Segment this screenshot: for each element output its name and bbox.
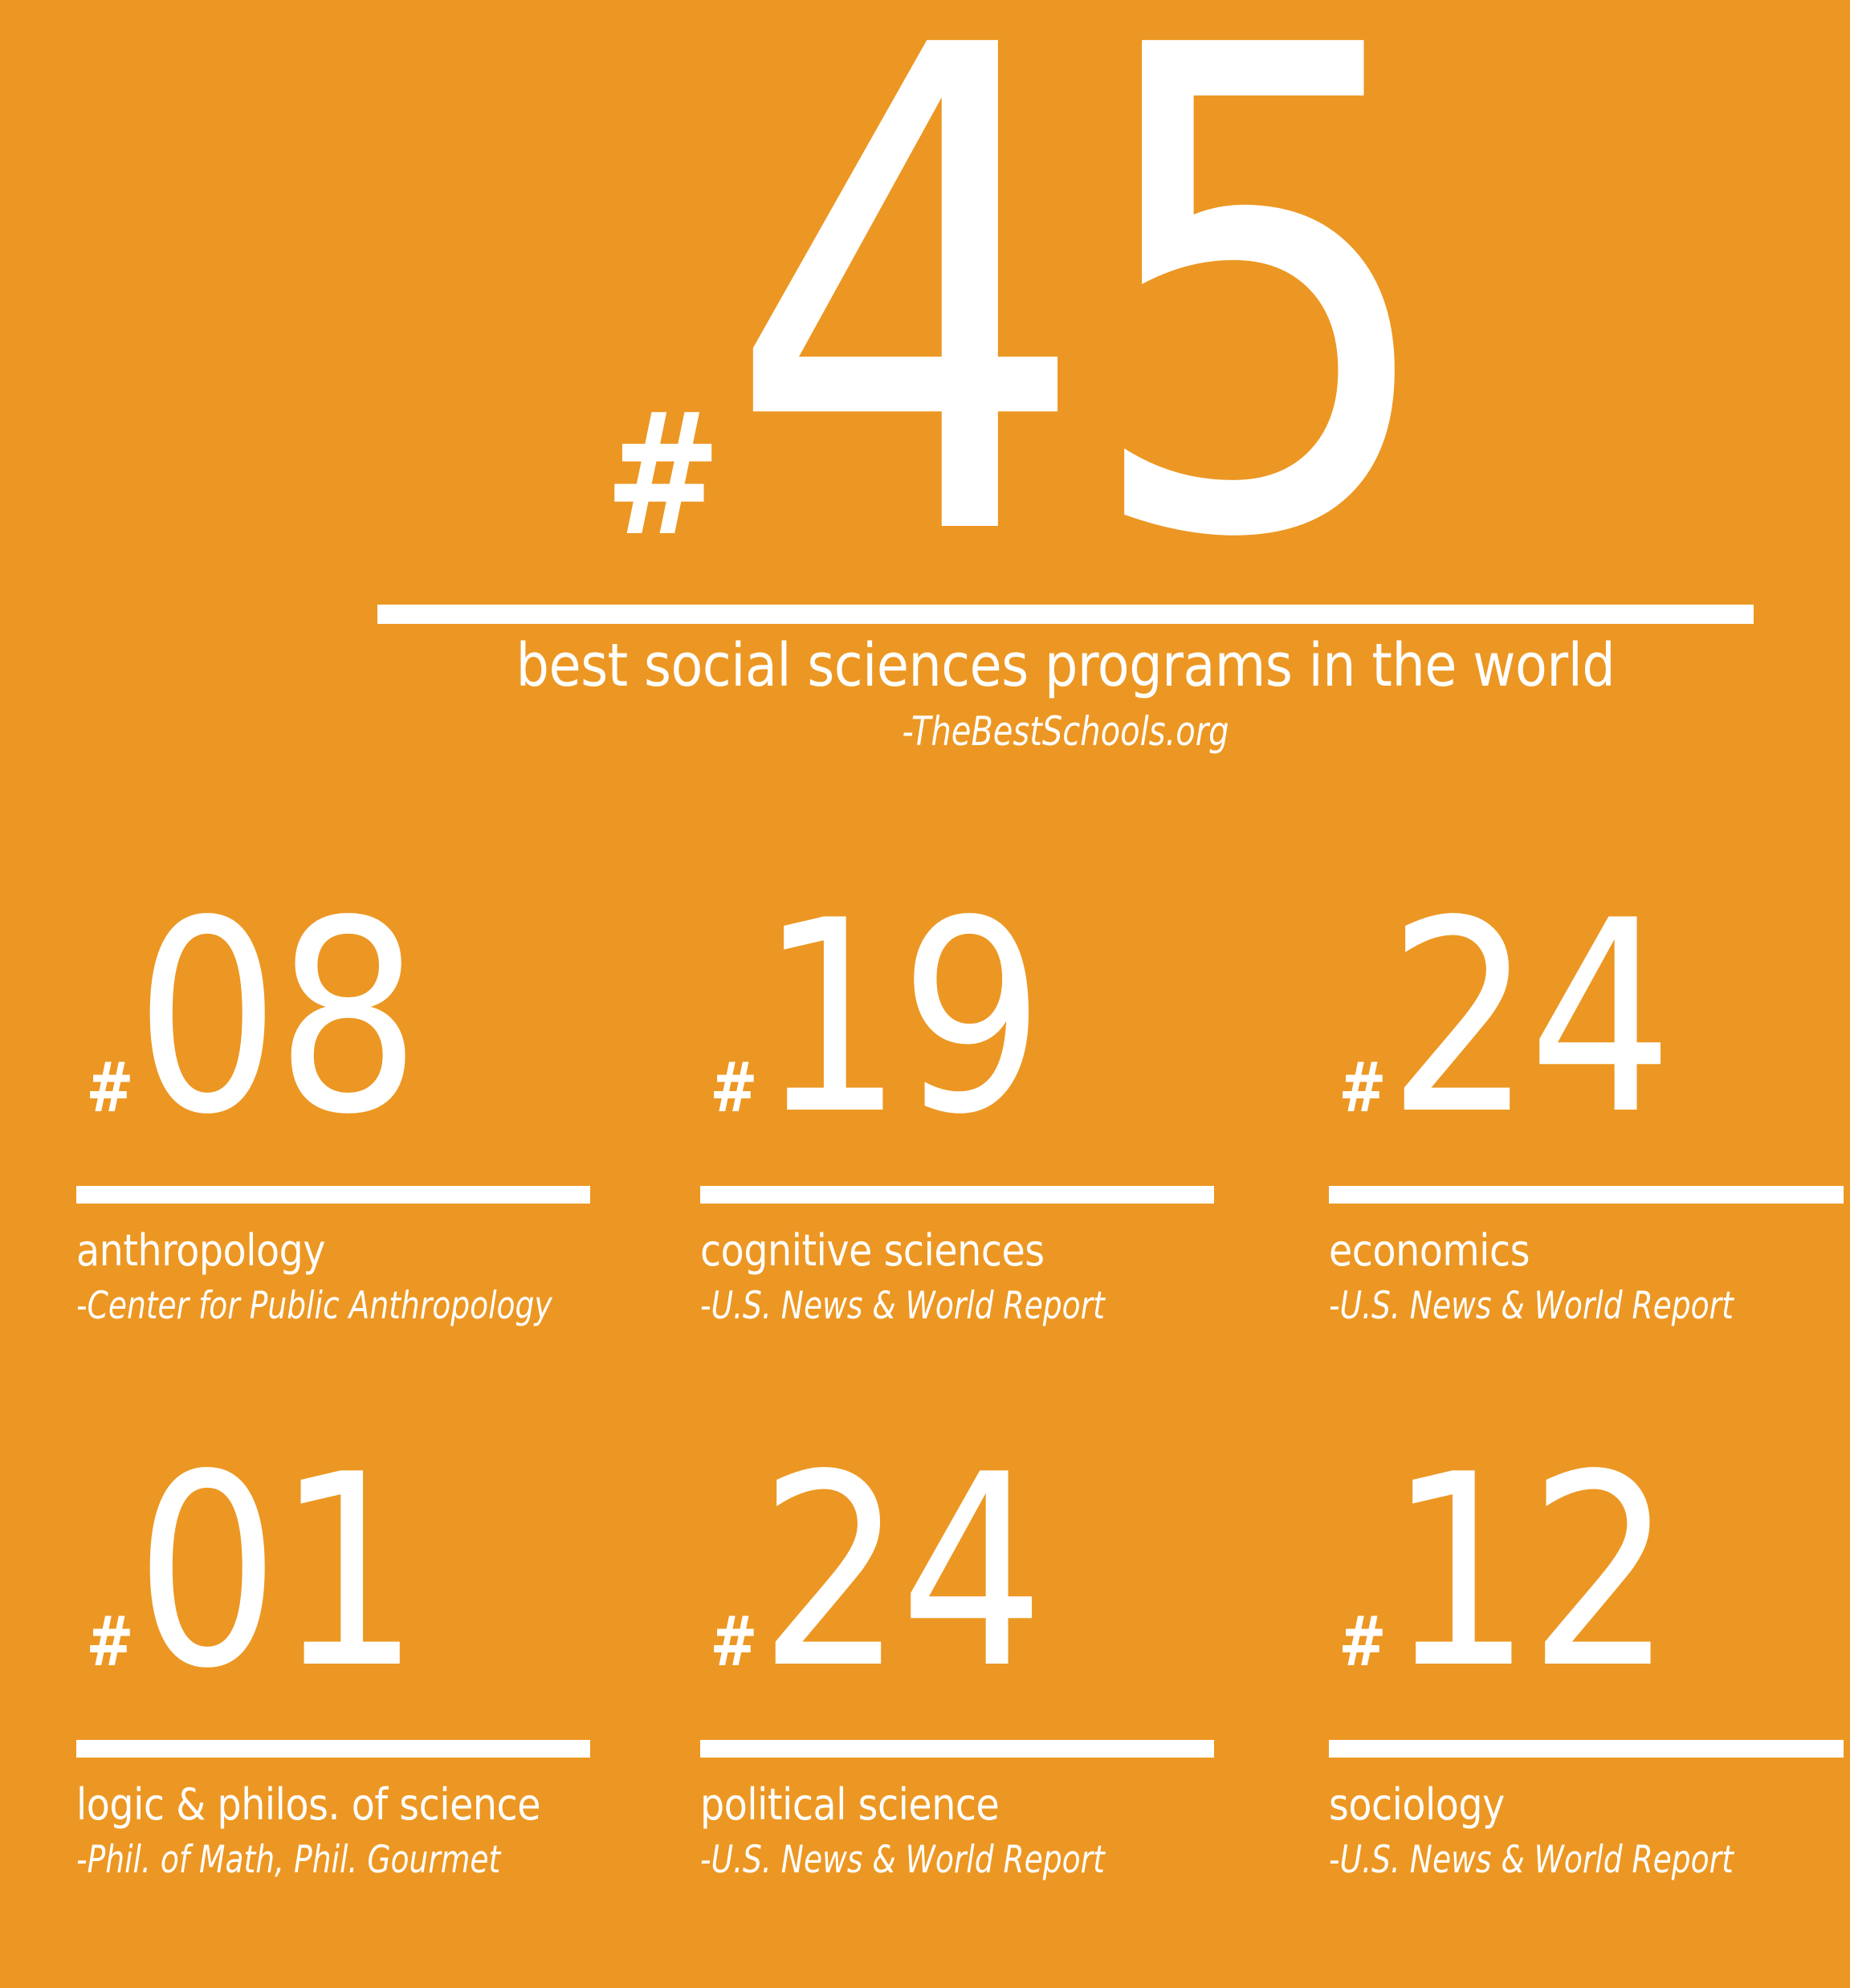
stat-cell-anthropology: #08 anthropology -Center for Public Anth… (76, 875, 590, 1429)
stat-source: -U.S. News & World Report (1329, 1286, 1850, 1326)
stat-cell-economics: #24 economics -U.S. News & World Report (1329, 875, 1844, 1429)
stat-label: logic & philos. of science (76, 1782, 574, 1827)
hero-title: best social sciences programs in the wor… (460, 636, 1671, 696)
stat-divider (700, 1740, 1214, 1758)
stat-cell-logic-philosophy-of-science: #01 logic & philos. of science -Phil. of… (76, 1429, 590, 1983)
hash-symbol: # (710, 1614, 756, 1671)
hash-symbol: # (86, 1060, 132, 1117)
stats-row: #08 anthropology -Center for Public Anth… (0, 875, 1850, 1429)
hash-symbol: # (86, 1614, 132, 1671)
stat-source: -U.S. News & World Report (700, 1840, 1235, 1880)
stat-rank: #01 (76, 1429, 590, 1678)
stat-rank: #24 (700, 1429, 1214, 1678)
stat-label: economics (1329, 1228, 1827, 1273)
stat-divider (76, 1186, 590, 1204)
stat-divider (76, 1740, 590, 1758)
stat-source: -Center for Public Anthropology (76, 1286, 611, 1326)
hash-symbol: # (605, 406, 717, 544)
stat-rank: #08 (76, 875, 590, 1124)
hero-section: #45 best social sciences programs in the… (0, 0, 1850, 795)
stat-source: -U.S. News & World Report (700, 1286, 1235, 1326)
stat-rank-number: 24 (1387, 912, 1669, 1124)
hero-source: -TheBestSchools.org (515, 711, 1616, 753)
stats-grid: #08 anthropology -Center for Public Anth… (0, 875, 1850, 1983)
stat-divider (1329, 1740, 1844, 1758)
stat-rank-number: 19 (759, 912, 1041, 1124)
infographic-canvas: #45 best social sciences programs in the… (0, 0, 1850, 1988)
hero-divider (377, 605, 1754, 624)
stat-cell-sociology: #12 sociology -U.S. News & World Report (1329, 1429, 1844, 1983)
stat-label: anthropology (76, 1228, 574, 1273)
hash-symbol: # (1339, 1614, 1384, 1671)
stat-rank-number: 01 (135, 1466, 417, 1678)
stat-label: cognitive sciences (700, 1228, 1198, 1273)
stat-divider (1329, 1186, 1844, 1204)
stat-label: political science (700, 1782, 1198, 1827)
stat-rank-number: 12 (1387, 1466, 1669, 1678)
hero-rank: #45 (377, 0, 1754, 562)
stat-cell-political-science: #24 political science -U.S. News & World… (700, 1429, 1214, 1983)
stat-divider (700, 1186, 1214, 1204)
hash-symbol: # (710, 1060, 756, 1117)
stat-rank: #24 (1329, 875, 1844, 1124)
hero-rank-number: 45 (725, 29, 1435, 562)
stat-rank-number: 24 (759, 1466, 1041, 1678)
stat-rank-number: 08 (135, 912, 417, 1124)
stat-cell-cognitive-sciences: #19 cognitive sciences -U.S. News & Worl… (700, 875, 1214, 1429)
stat-rank: #12 (1329, 1429, 1844, 1678)
stat-label: sociology (1329, 1782, 1827, 1827)
stat-rank: #19 (700, 875, 1214, 1124)
stats-row: #01 logic & philos. of science -Phil. of… (0, 1429, 1850, 1983)
stat-source: -U.S. News & World Report (1329, 1840, 1850, 1880)
stat-source: -Phil. of Math, Phil. Gourmet (76, 1840, 611, 1880)
hash-symbol: # (1339, 1060, 1384, 1117)
